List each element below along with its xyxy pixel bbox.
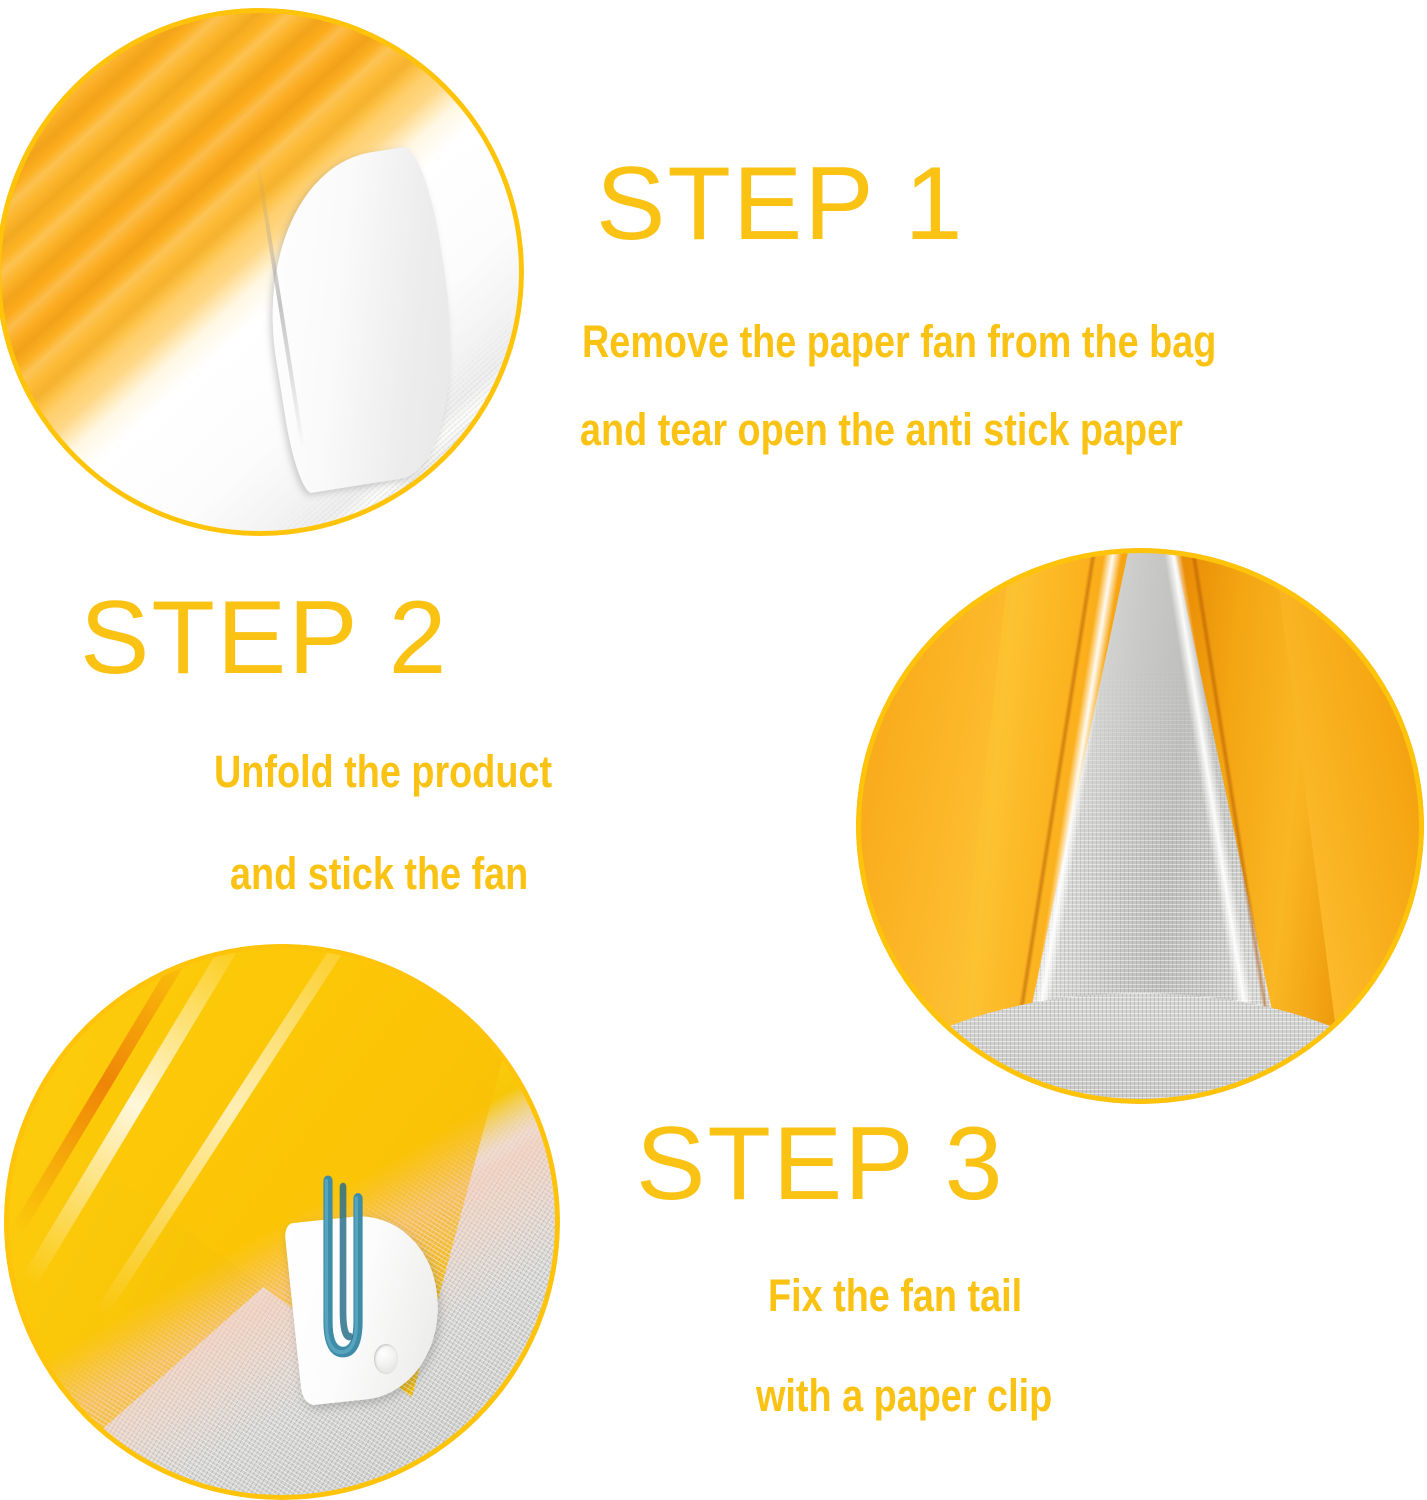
step-2-heading: STEP 2: [80, 586, 448, 690]
step-1-photo: [0, 8, 524, 536]
step-3-photo-inner: [4, 944, 560, 1500]
step-2-photo: [856, 548, 1424, 1104]
step-3-body-line-1: Fix the fan tail: [768, 1272, 1022, 1319]
step-3-heading: STEP 3: [636, 1112, 1004, 1216]
step-2-body-line-1: Unfold the product: [214, 748, 552, 795]
mesh-warm-light-wash: [4, 944, 560, 1500]
step-1-heading: STEP 1: [596, 152, 964, 256]
step-1-body-line-1: Remove the paper fan from the bag: [582, 318, 1216, 365]
paper-clip-icon: [313, 1175, 363, 1370]
step-3-photo: [4, 944, 560, 1500]
step-2-body-line-2: and stick the fan: [230, 850, 528, 897]
instruction-sheet: STEP 1 Remove the paper fan from the bag…: [0, 0, 1427, 1500]
step-1-body-line-2: and tear open the anti stick paper: [580, 406, 1183, 453]
step-1-photo-inner: [0, 8, 524, 536]
step-2-photo-inner: [856, 548, 1424, 1104]
mesh-fabric-texture: [0, 8, 524, 536]
step-3-body-line-2: with a paper clip: [756, 1372, 1052, 1419]
